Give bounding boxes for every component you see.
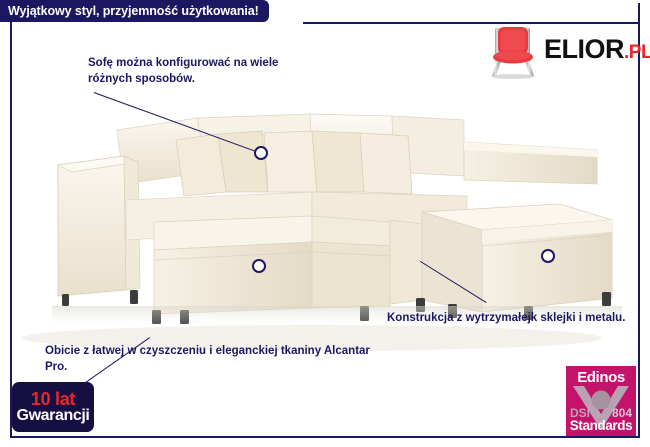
callout-fabric: Obicie z łatwej w czyszczeniu i eleganck… bbox=[45, 344, 375, 375]
edinos-title: Edinos bbox=[566, 369, 636, 386]
warranty-years: 10 lat bbox=[31, 390, 75, 408]
warranty-label: Gwarancji bbox=[17, 408, 90, 425]
callout-marker-fabric bbox=[252, 259, 266, 273]
callout-marker-construction bbox=[541, 249, 555, 263]
frame-border-right bbox=[638, 3, 640, 437]
edinos-label: Standards bbox=[566, 418, 636, 433]
brand-logo-text: ELIOR.PL bbox=[544, 36, 650, 63]
brand-name: ELIOR bbox=[544, 34, 624, 64]
callout-configure: Sofę można konfigurować na wiele różnych… bbox=[88, 56, 318, 87]
brand-tld: PL bbox=[629, 42, 650, 63]
promo-banner-page: Wyjątkowy styl, przyjemność użytkowania!… bbox=[0, 0, 650, 447]
header-banner-text: Wyjątkowy styl, przyjemność użytkowania! bbox=[8, 4, 259, 18]
frame-border-bottom bbox=[10, 436, 640, 438]
callout-marker-configure bbox=[254, 146, 268, 160]
callout-construction: Konstrukcja z wytrzymałejk sklejki i met… bbox=[387, 311, 637, 327]
header-banner: Wyjątkowy styl, przyjemność użytkowania! bbox=[0, 0, 269, 22]
warranty-badge: 10 lat Gwarancji bbox=[12, 382, 94, 432]
red-chair-icon bbox=[484, 24, 542, 80]
edinos-standards-badge: Edinos DSI 804 Standards bbox=[566, 366, 636, 436]
brand-logo: ELIOR.PL bbox=[484, 24, 634, 80]
